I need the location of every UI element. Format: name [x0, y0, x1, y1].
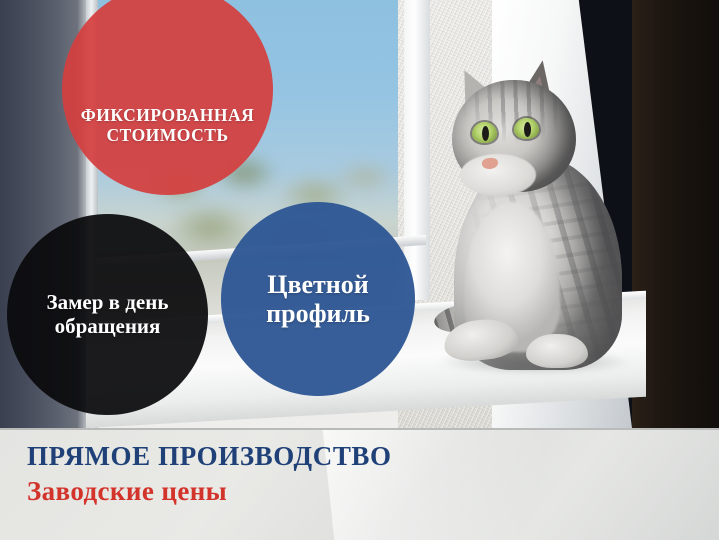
badge-same-day-measurement-line2: обращения [47, 315, 169, 339]
badge-color-profile-line1: Цветной [266, 270, 370, 299]
cat-muzzle [460, 154, 536, 196]
banner-divider [0, 428, 719, 430]
badge-color-profile-line2: профиль [266, 299, 370, 328]
badge-fixed-price-line2: СТОИМОСТЬ [81, 126, 255, 146]
badge-same-day-measurement-line1: Замер в день [47, 291, 169, 315]
banner-subline: Заводские цены [27, 476, 392, 507]
cat-pupil-left [482, 126, 489, 141]
cat-paw-right [526, 334, 588, 368]
cat-eye-right [514, 118, 539, 139]
cat-eye-left [472, 122, 497, 143]
window-sash [404, 0, 430, 300]
ad-image: ФИКСИРОВАННАЯ СТОИМОСТЬ Замер в день обр… [0, 0, 719, 540]
banner-headline: ПРЯМОЕ ПРОИЗВОДСТВО [27, 441, 392, 472]
badge-fixed-price-line1: ФИКСИРОВАННАЯ [81, 106, 255, 126]
bottom-banner: ПРЯМОЕ ПРОИЗВОДСТВО Заводские цены ® КОН… [0, 428, 719, 540]
banner-text-block: ПРЯМОЕ ПРОИЗВОДСТВО Заводские цены [27, 441, 392, 507]
badge-color-profile: Цветной профиль [221, 202, 415, 396]
cat-photo-subject [430, 34, 670, 370]
badge-same-day-measurement: Замер в день обращения [7, 214, 208, 415]
cat-pupil-right [524, 122, 531, 137]
